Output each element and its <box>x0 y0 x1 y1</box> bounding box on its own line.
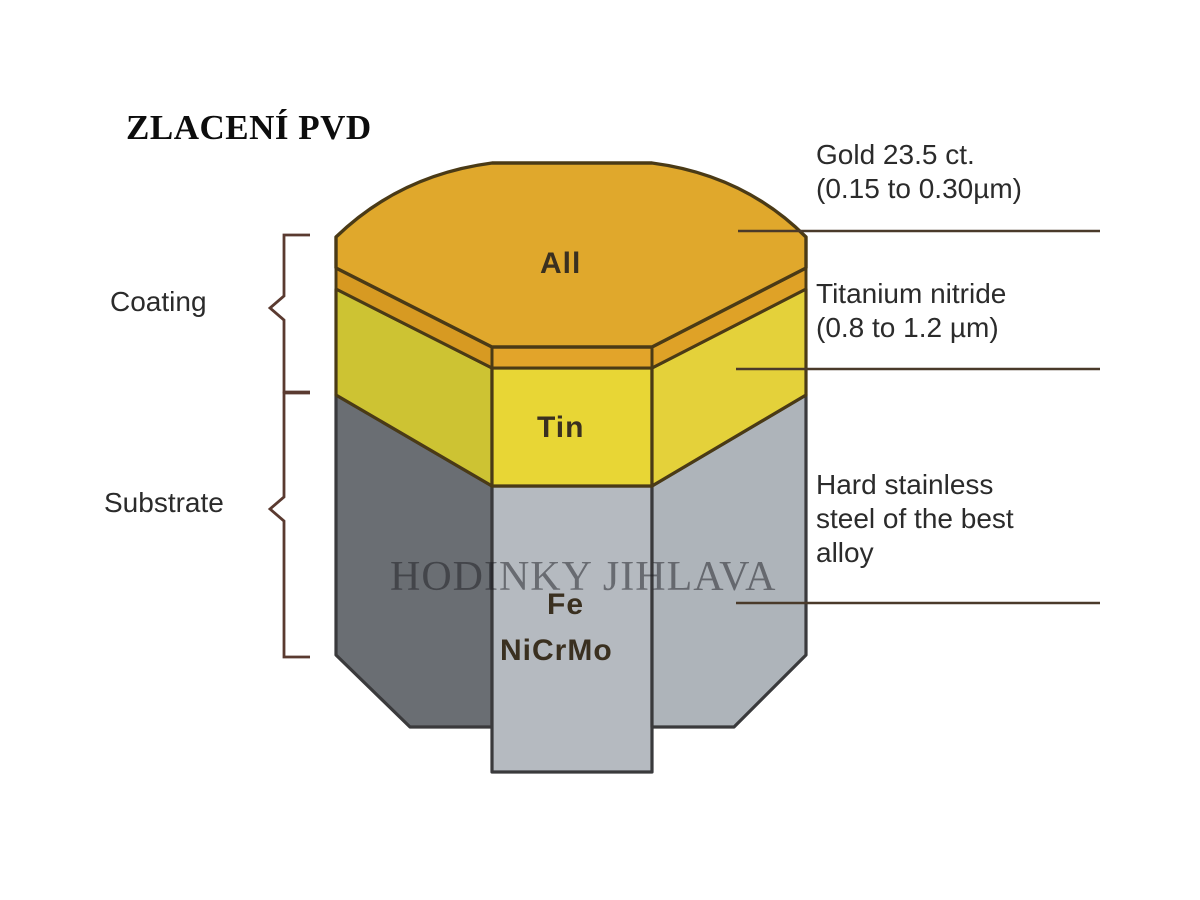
substrate-front-facet <box>492 486 652 772</box>
annotation-stainless-steel-line-2: steel of the best <box>816 502 1014 536</box>
bracket-substrate-path <box>270 393 310 657</box>
bracket-label-substrate: Substrate <box>104 487 224 519</box>
annotation-stainless-steel-line-1: Hard stainless <box>816 468 1014 502</box>
annotation-titanium-nitride-line-2: (0.8 to 1.2 µm) <box>816 311 1006 345</box>
gold-edge-front <box>492 347 652 368</box>
annotation-stainless-steel: Hard stainless steel of the best alloy <box>816 468 1014 570</box>
bracket-coating <box>270 235 310 392</box>
annotation-stainless-steel-line-3: alloy <box>816 536 1014 570</box>
bracket-coating-path <box>270 235 310 392</box>
annotation-titanium-nitride: Titanium nitride (0.8 to 1.2 µm) <box>816 277 1006 345</box>
page-title: ZLACENÍ PVD <box>126 108 372 148</box>
face-label-gold: All <box>540 247 581 281</box>
face-label-substrate-nicrmo: NiCrMo <box>500 634 613 668</box>
left-brackets <box>270 235 310 657</box>
bracket-substrate <box>270 393 310 657</box>
bracket-label-coating: Coating <box>110 286 207 318</box>
annotation-gold-line-2: (0.15 to 0.30µm) <box>816 172 1022 206</box>
diagram-canvas: ZLACENÍ PVD Coating Substrate Gold 23.5 … <box>0 0 1200 900</box>
annotation-gold: Gold 23.5 ct. (0.15 to 0.30µm) <box>816 138 1022 206</box>
face-label-substrate-fe: Fe <box>547 588 584 622</box>
annotation-gold-line-1: Gold 23.5 ct. <box>816 138 1022 172</box>
annotation-titanium-nitride-line-1: Titanium nitride <box>816 277 1006 311</box>
face-label-titanium-nitride: Tin <box>537 411 584 445</box>
